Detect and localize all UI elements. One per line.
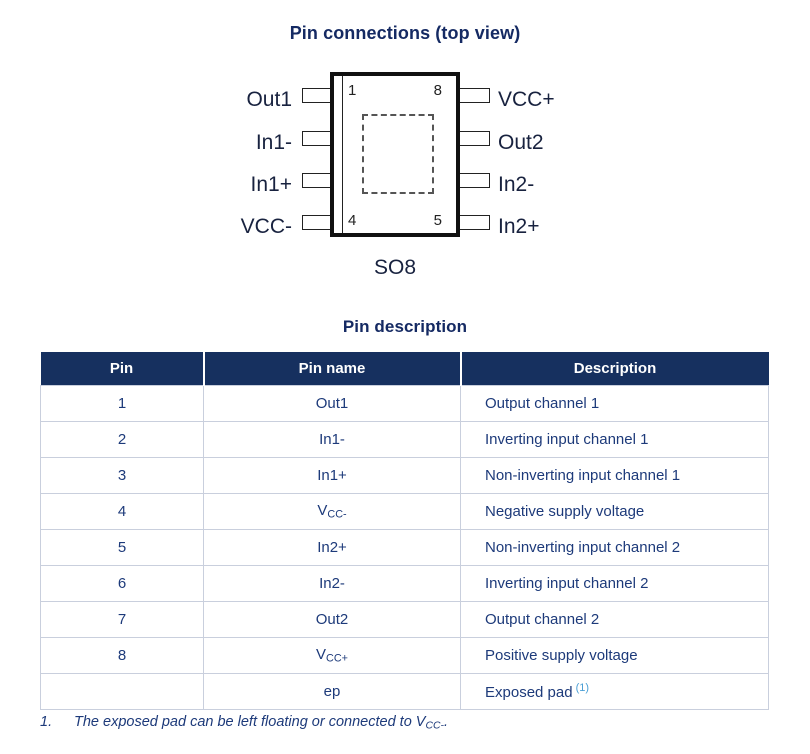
table-row: 1Out1Output channel 1 (41, 386, 769, 422)
cell-description: Non-inverting input channel 1 (461, 458, 769, 494)
table-row: 8VCC+Positive supply voltage (41, 638, 769, 674)
cell-pin-name: In2+ (204, 530, 461, 566)
table-row: 2In1-Inverting input channel 1 (41, 422, 769, 458)
page-title-pin-description: Pin description (0, 317, 810, 337)
pin-name-subscript: CC+ (326, 653, 348, 665)
pin-lead-8 (458, 88, 490, 103)
cell-pin-number: 7 (41, 602, 204, 638)
cell-description: Output channel 2 (461, 602, 769, 638)
cell-description: Positive supply voltage (461, 638, 769, 674)
column-header-pin-name: Pin name (204, 352, 461, 386)
pin-label-in1-plus: In1+ (251, 174, 292, 195)
cell-pin-number: 5 (41, 530, 204, 566)
package-diagram: 1 8 4 5 Out1 In1- In1+ VCC- VCC+ Out2 In… (0, 60, 810, 295)
cell-pin-number: 6 (41, 566, 204, 602)
cell-pin-name: ep (204, 674, 461, 710)
pin-label-vcc-plus: VCC+ (498, 89, 555, 110)
cell-pin-number: 3 (41, 458, 204, 494)
cell-description: Negative supply voltage (461, 494, 769, 530)
column-header-description: Description (461, 352, 769, 386)
pin-label-in2-plus: In2+ (498, 216, 539, 237)
pin-lead-6 (458, 173, 490, 188)
cell-pin-name: In1+ (204, 458, 461, 494)
footnote-text-before: The exposed pad can be left floating or … (74, 714, 425, 730)
cell-pin-number: 8 (41, 638, 204, 674)
cell-pin-number (41, 674, 204, 710)
pin-lead-5 (458, 215, 490, 230)
footnote-number: 1. (40, 714, 74, 730)
pin-name-subscript: CC- (327, 509, 346, 521)
cell-description: Output channel 1 (461, 386, 769, 422)
column-header-pin: Pin (41, 352, 204, 386)
exposed-pad-outline (362, 114, 434, 194)
package-body: 1 8 4 5 (330, 72, 460, 237)
table-row: 6In2-Inverting input channel 2 (41, 566, 769, 602)
cell-description: Non-inverting input channel 2 (461, 530, 769, 566)
table-header: Pin Pin name Description (41, 352, 769, 386)
pin-number-5: 5 (434, 212, 442, 229)
table-header-row: Pin Pin name Description (41, 352, 769, 386)
cell-pin-name: VCC+ (204, 638, 461, 674)
pin-label-vcc-minus: VCC- (241, 216, 292, 237)
table-row: epExposed pad(1) (41, 674, 769, 710)
pin-label-out1: Out1 (246, 89, 292, 110)
pin-number-8: 8 (434, 82, 442, 99)
cell-pin-name: In1- (204, 422, 461, 458)
table-row: 5In2+Non-inverting input channel 2 (41, 530, 769, 566)
pin-label-in1-minus: In1- (256, 132, 292, 153)
footnote-subscript: CC- (425, 720, 444, 731)
cell-pin-name: In2- (204, 566, 461, 602)
pin-number-1: 1 (348, 82, 356, 99)
cell-description: Exposed pad(1) (461, 674, 769, 710)
footnote-reference-link[interactable]: (1) (576, 682, 589, 694)
table-row: 4VCC-Negative supply voltage (41, 494, 769, 530)
pin-label-out2: Out2 (498, 132, 544, 153)
pin-number-4: 4 (348, 212, 356, 229)
package-name-label: SO8 (330, 256, 460, 280)
table-row: 7Out2Output channel 2 (41, 602, 769, 638)
package-bevel-line (342, 76, 343, 233)
cell-pin-name: Out2 (204, 602, 461, 638)
cell-pin-number: 2 (41, 422, 204, 458)
page-title-pin-connections: Pin connections (top view) (0, 23, 810, 44)
cell-description: Inverting input channel 1 (461, 422, 769, 458)
table-row: 3In1+Non-inverting input channel 1 (41, 458, 769, 494)
footnote-text-after: . (444, 714, 448, 730)
cell-description: Inverting input channel 2 (461, 566, 769, 602)
pin-label-in2-minus: In2- (498, 174, 534, 195)
pin-lead-7 (458, 131, 490, 146)
pin-description-table: Pin Pin name Description 1Out1Output cha… (40, 352, 769, 710)
cell-pin-number: 4 (41, 494, 204, 530)
cell-pin-name: VCC- (204, 494, 461, 530)
cell-pin-number: 1 (41, 386, 204, 422)
cell-pin-name: Out1 (204, 386, 461, 422)
footnote-1: 1.The exposed pad can be left floating o… (40, 714, 448, 731)
table-body: 1Out1Output channel 12In1-Inverting inpu… (41, 386, 769, 710)
